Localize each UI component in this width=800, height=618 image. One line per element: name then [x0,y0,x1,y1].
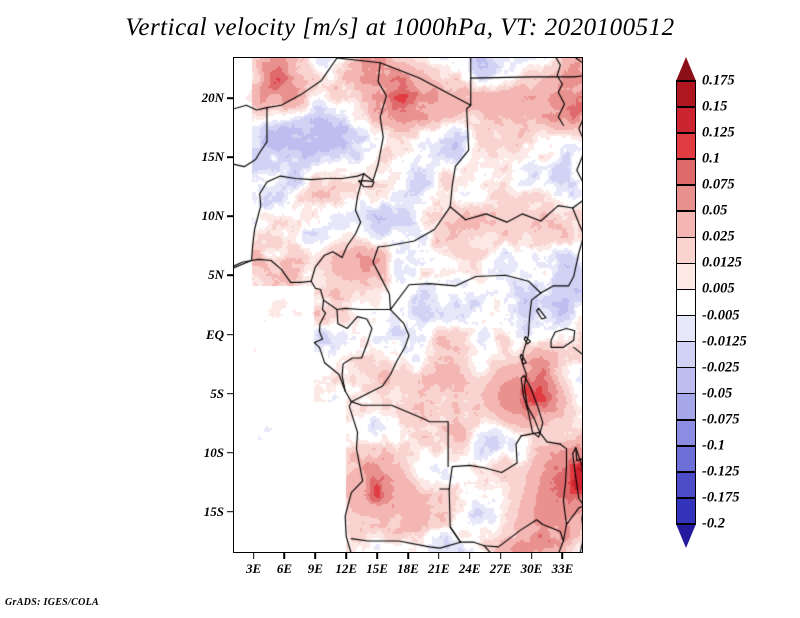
colorbar-label-0.05: 0.05 [702,203,727,220]
colorbar-segment [676,185,696,211]
colorbar-divider [676,132,696,134]
colorbar-divider [676,315,696,317]
colorbar-segment [676,446,696,472]
colorbar-label-0.025: 0.025 [702,229,735,246]
colorbar-label-0.0125: 0.0125 [702,255,742,272]
colorbar-segment [676,237,696,263]
colorbar-segment [676,289,696,315]
lon-tick [531,553,533,559]
map-plot-area [233,57,583,553]
lon-tick [469,553,471,559]
colorbar-label--0.125: -0.125 [702,463,739,480]
lon-label-12E: 12E [335,561,357,577]
colorbar-label--0.005: -0.005 [702,307,739,324]
colorbar-divider [676,106,696,108]
colorbar-label-0.125: 0.125 [702,125,735,142]
footer-credit: GrADS: IGES/COLA [5,597,99,608]
lon-tick [345,553,347,559]
colorbar-divider [676,289,696,291]
lat-label-5N: 5N [208,267,224,283]
colorbar-divider [676,445,696,447]
lon-tick [562,553,564,559]
lat-tick [227,216,233,218]
colorbar-divider [676,419,696,421]
colorbar-divider [676,367,696,369]
colorbar-divider [676,263,696,265]
colorbar-segment [676,368,696,394]
colorbar-label--0.175: -0.175 [702,489,739,506]
lon-label-24E: 24E [459,561,481,577]
lon-label-33E: 33E [552,561,574,577]
colorbar-divider [676,210,696,212]
lon-label-3E: 3E [246,561,261,577]
lat-tick [227,275,233,277]
colorbar-segment [676,133,696,159]
page-title: Vertical velocity [m/s] at 1000hPa, VT: … [0,14,800,42]
colorbar-label--0.05: -0.05 [702,385,732,402]
colorbar-segment [676,394,696,420]
colorbar-segment [676,316,696,342]
colorbar-label-0.175: 0.175 [702,73,735,90]
lon-tick [407,553,409,559]
lon-tick [284,553,286,559]
colorbar-label-0.005: 0.005 [702,281,735,298]
colorbar: 0.1750.150.1250.10.0750.050.0250.01250.0… [676,57,696,548]
colorbar-label--0.1: -0.1 [702,437,725,454]
colorbar-divider [676,158,696,160]
lon-tick [500,553,502,559]
colorbar-divider [676,471,696,473]
lon-tick [438,553,440,559]
lon-tick [315,553,317,559]
colorbar-divider [676,523,696,525]
lat-tick [227,393,233,395]
lon-label-30E: 30E [521,561,543,577]
colorbar-label-0.1: 0.1 [702,151,720,168]
colorbar-arrow-top [676,57,696,81]
lat-tick [227,98,233,100]
colorbar-divider [676,341,696,343]
colorbar-divider [676,393,696,395]
lat-label-20N: 20N [202,90,224,106]
lon-label-18E: 18E [397,561,419,577]
colorbar-arrow-bottom [676,524,696,548]
colorbar-segment [676,159,696,185]
lon-tick [253,553,255,559]
colorbar-segment [676,498,696,524]
lon-tick [376,553,378,559]
colorbar-label--0.2: -0.2 [702,516,725,533]
colorbar-segment [676,211,696,237]
colorbar-divider [676,237,696,239]
colorbar-segment [676,107,696,133]
lat-label-15N: 15N [202,149,224,165]
lon-label-27E: 27E [490,561,512,577]
lat-tick [227,157,233,159]
lon-label-9E: 9E [308,561,323,577]
lon-label-21E: 21E [428,561,450,577]
colorbar-segment [676,263,696,289]
colorbar-segment [676,342,696,368]
lat-tick [227,334,233,336]
colorbar-label-0.15: 0.15 [702,99,727,116]
coastline-border-overlay [234,58,583,553]
colorbar-divider [676,184,696,186]
colorbar-segment [676,81,696,107]
lat-label-5S: 5S [210,386,224,402]
colorbar-segment [676,472,696,498]
lat-tick [227,452,233,454]
colorbar-label--0.0125: -0.0125 [702,333,747,350]
colorbar-label--0.075: -0.075 [702,411,739,428]
lat-label-15S: 15S [204,504,224,520]
lat-label-10S: 10S [204,445,224,461]
lon-label-15E: 15E [366,561,388,577]
colorbar-divider [676,497,696,499]
lat-tick [227,511,233,513]
colorbar-divider [676,80,696,82]
colorbar-label--0.025: -0.025 [702,359,739,376]
colorbar-label-0.075: 0.075 [702,177,735,194]
lat-label-EQ: EQ [206,327,224,343]
lat-label-10N: 10N [202,208,224,224]
lon-label-6E: 6E [277,561,292,577]
colorbar-segment [676,420,696,446]
